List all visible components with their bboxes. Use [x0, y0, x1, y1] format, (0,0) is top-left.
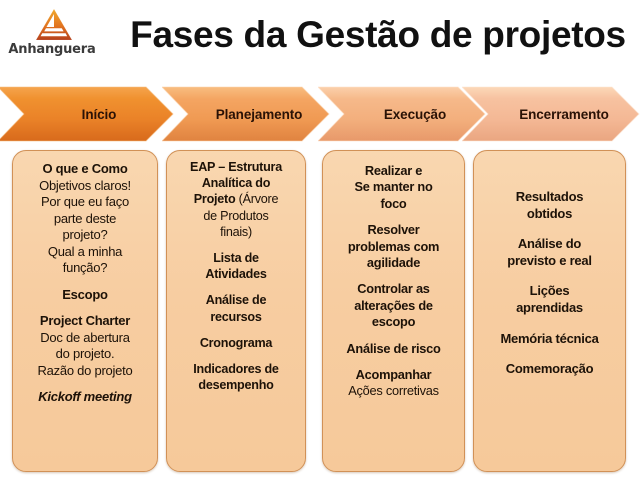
phase-text-group: Análise doprevisto e real	[479, 236, 620, 269]
phase-chevron-planejamento[interactable]: Planejamento	[162, 86, 330, 142]
phase-chevron-execucao[interactable]: Execução	[318, 86, 486, 142]
phase-text-line: recursos	[172, 309, 300, 325]
phase-text-line: Objetivos claros!	[18, 178, 152, 195]
phase-text-line: Realizar e	[328, 163, 459, 179]
phase-text-line: Análise de	[172, 292, 300, 308]
phase-text-line: Controlar as	[328, 281, 459, 297]
phase-text-line: projeto?	[18, 227, 152, 244]
phase-text-line: Qual a minha	[18, 244, 152, 261]
phase-text-group: AcompanharAções corretivas	[328, 367, 459, 400]
phase-text-line: Lições	[479, 283, 620, 300]
phase-text-line: Indicadores de	[172, 361, 300, 377]
phase-text-line: Ações corretivas	[328, 383, 459, 399]
phase-text-group: Cronograma	[172, 335, 300, 351]
phase-text-line: Análise do	[479, 236, 620, 253]
phase-text-line: Kickoff meeting	[18, 389, 152, 406]
phase-text-group: Escopo	[18, 287, 152, 304]
phase-text-line: agilidade	[328, 255, 459, 271]
phase-text-line: Acompanhar	[328, 367, 459, 383]
phase-text-group: Análise derecursos	[172, 292, 300, 324]
phase-text-group: Kickoff meeting	[18, 389, 152, 406]
phase-text-group: EAP – EstruturaAnalítica doProjeto (Árvo…	[172, 159, 300, 240]
phase-text-line: Projeto (Árvore	[172, 191, 300, 207]
anhanguera-pyramid-logo-icon	[34, 8, 74, 42]
phase-box-planejamento[interactable]: EAP – EstruturaAnalítica doProjeto (Árvo…	[166, 150, 306, 472]
phase-text-line: Project Charter	[18, 313, 152, 330]
phase-chevron-inicio[interactable]: Início	[0, 86, 174, 142]
phase-text-line: Analítica do	[172, 175, 300, 191]
phase-text-line: Comemoração	[479, 361, 620, 378]
phase-text-line: aprendidas	[479, 300, 620, 317]
phase-text-line: finais)	[172, 224, 300, 240]
phase-text-group: Resolverproblemas comagilidade	[328, 222, 459, 271]
phase-text-group: Resultadosobtidos	[479, 189, 620, 222]
phase-text-line: de Produtos	[172, 208, 300, 224]
phase-text-line: parte deste	[18, 211, 152, 228]
phase-text-line: Lista de	[172, 250, 300, 266]
phase-text-line: Por que eu faço	[18, 194, 152, 211]
phase-text-line: EAP – Estrutura	[172, 159, 300, 175]
phase-text-line: escopo	[328, 314, 459, 330]
phase-text-group: Indicadores dedesempenho	[172, 361, 300, 393]
phase-text-line: problemas com	[328, 239, 459, 255]
phase-text-line: foco	[328, 196, 459, 212]
phase-text-line: Resolver	[328, 222, 459, 238]
phase-box-content: EAP – EstruturaAnalítica doProjeto (Árvo…	[167, 159, 305, 393]
phase-text-line: obtidos	[479, 206, 620, 223]
phase-text-line: alterações de	[328, 298, 459, 314]
brand-logo: Anhanguera	[6, 6, 98, 62]
phase-text-line: Razão do projeto	[18, 363, 152, 380]
phase-text-line: do projeto.	[18, 346, 152, 363]
phase-text-line: desempenho	[172, 377, 300, 393]
phase-text-line: Análise de risco	[328, 341, 459, 357]
phase-text-group: O que e ComoObjetivos claros!Por que eu …	[18, 161, 152, 277]
phase-box-encerramento[interactable]: ResultadosobtidosAnálise doprevisto e re…	[473, 150, 626, 472]
phase-text-line: função?	[18, 260, 152, 277]
slide-root: Anhanguera Fases da Gestão de projetos I…	[0, 0, 640, 480]
slide-header: Anhanguera Fases da Gestão de projetos	[0, 0, 640, 82]
phase-text-line: Se manter no	[328, 179, 459, 195]
phase-text-line: O que e Como	[18, 161, 152, 178]
phase-box-execucao[interactable]: Realizar eSe manter nofocoResolverproble…	[322, 150, 465, 472]
phase-box-content: O que e ComoObjetivos claros!Por que eu …	[13, 161, 157, 406]
page-title: Fases da Gestão de projetos	[120, 9, 636, 61]
phase-text-line: Cronograma	[172, 335, 300, 351]
phase-text-line: Doc de abertura	[18, 330, 152, 347]
phase-chevron-encerramento[interactable]: Encerramento	[462, 86, 640, 142]
brand-name: Anhanguera	[6, 42, 98, 57]
phase-box-content: Realizar eSe manter nofocoResolverproble…	[323, 163, 464, 400]
phase-text-group: Lista deAtividades	[172, 250, 300, 282]
phase-text-group: Controlar asalterações deescopo	[328, 281, 459, 330]
phase-text-group: Project CharterDoc de aberturado projeto…	[18, 313, 152, 379]
phase-text-group: Memória técnica	[479, 331, 620, 348]
phase-text-group: Análise de risco	[328, 341, 459, 357]
phase-text-group: Comemoração	[479, 361, 620, 378]
phase-box-inicio[interactable]: O que e ComoObjetivos claros!Por que eu …	[12, 150, 158, 472]
phase-text-group: Realizar eSe manter nofoco	[328, 163, 459, 212]
phase-box-content: ResultadosobtidosAnálise doprevisto e re…	[474, 189, 625, 392]
phase-text-line: Atividades	[172, 266, 300, 282]
phase-text-group: Liçõesaprendidas	[479, 283, 620, 316]
phase-text-line: Memória técnica	[479, 331, 620, 348]
phase-text-line: Escopo	[18, 287, 152, 304]
phase-text-line: Resultados	[479, 189, 620, 206]
phase-text-line: previsto e real	[479, 253, 620, 270]
